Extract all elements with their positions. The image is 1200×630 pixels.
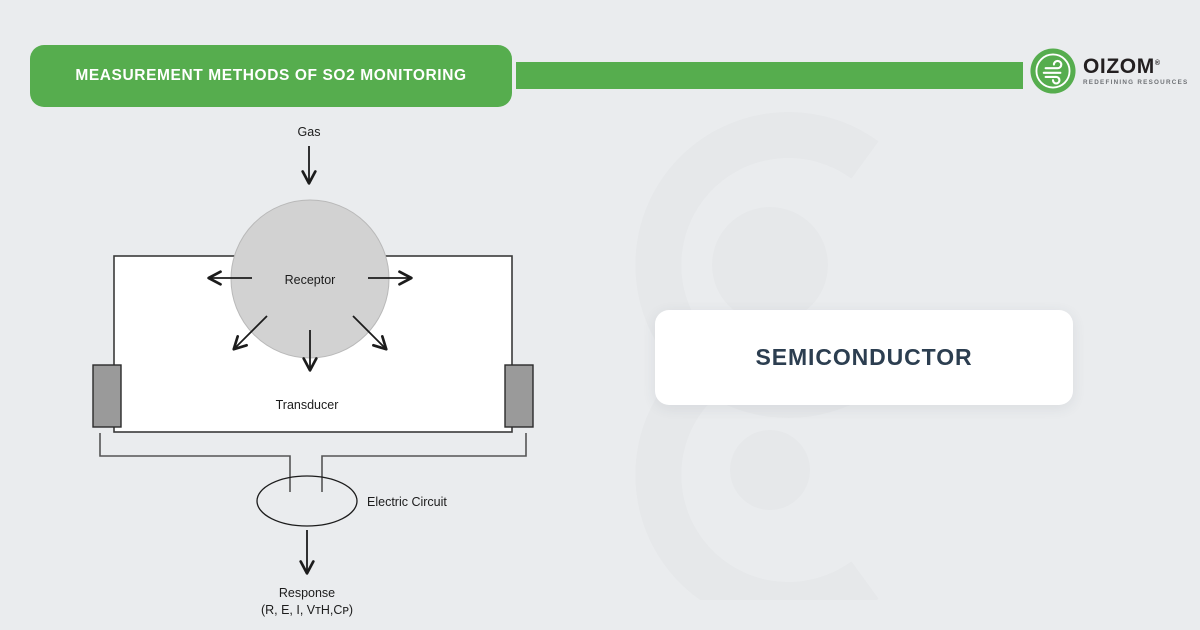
right-electrode <box>505 365 533 427</box>
electric-circuit-label: Electric Circuit <box>367 495 447 509</box>
gas-label: Gas <box>298 125 321 139</box>
response-label: Response <box>279 586 335 600</box>
right-wire <box>322 433 526 492</box>
poster-canvas: MEASUREMENT METHODS OF SO2 MONITORING OI… <box>0 0 1200 630</box>
response-params-label: (R, E, I, VᴛH,Cᴘ) <box>261 603 353 617</box>
transducer-label: Transducer <box>276 398 339 412</box>
left-electrode <box>93 365 121 427</box>
electric-circuit-ellipse <box>257 476 357 526</box>
sensor-schematic: Gas Receptor Transducer Electric Circuit… <box>0 0 1200 630</box>
left-wire <box>100 433 290 492</box>
receptor-label: Receptor <box>285 273 336 287</box>
